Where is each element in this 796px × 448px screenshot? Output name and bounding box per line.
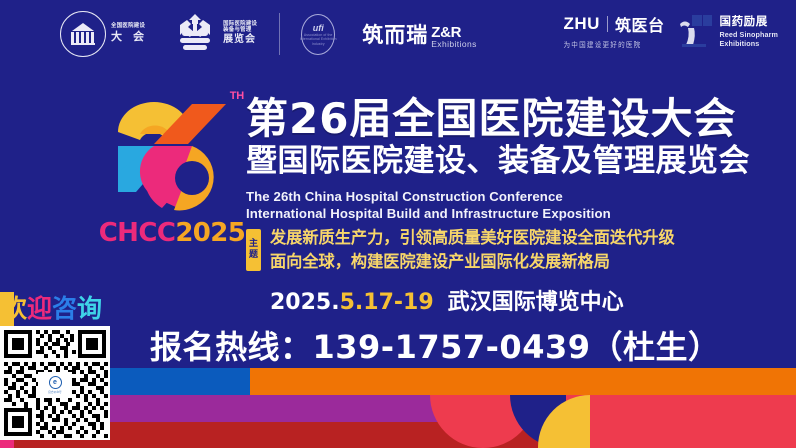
- qr-center-caption: 官方公众号: [48, 390, 61, 394]
- zr-en-block: Z&R Exhibitions: [431, 24, 477, 49]
- date-year: 2025.: [270, 290, 340, 315]
- left-logo-group: 全国医院建设 大 会: [60, 10, 477, 58]
- classical-building-emblem-icon: [60, 11, 106, 57]
- chcc-event-logo: TH CHCC2025: [96, 88, 248, 260]
- headline-english-line1: The 26th China Hospital Construction Con…: [246, 188, 786, 206]
- logo-national-conference-text: 全国医院建设 大 会: [111, 24, 148, 44]
- reed-cn-name: 国药励展: [719, 13, 778, 29]
- logo-national-conference-big: 大 会: [111, 32, 148, 44]
- reed-en-line1: Reed Sinopharm: [719, 30, 778, 39]
- theme-badge: 主 题: [246, 229, 261, 271]
- event-theme: 主 题 发展新质生产力，引领高质量美好医院建设全面迭代升级 面向全球，构建医院建…: [246, 226, 675, 274]
- headline-line2: 暨国际医院建设、装备及管理展览会: [246, 143, 786, 180]
- logo-divider: [279, 13, 280, 55]
- theme-line2: 面向全球，构建医院建设产业国际化发展新格局: [270, 250, 675, 274]
- venue-name: 武汉国际博览中心: [448, 290, 624, 315]
- logo-international-expo-text: 国际医院建设 装备与管理 展览会: [223, 22, 257, 46]
- logo-international-expo-big: 展览会: [223, 35, 257, 46]
- theme-text: 发展新质生产力，引领高质量美好医院建设全面迭代升级 面向全球，构建医院建设产业国…: [270, 226, 675, 274]
- chcc-wordmark: CHCC2025: [96, 218, 248, 248]
- ufi-subtext: Association of the International Exhibit…: [298, 33, 338, 46]
- headline-english-line2: International Hospital Build and Infrast…: [246, 205, 786, 223]
- qr-welcome-char-4: 询: [77, 294, 102, 323]
- right-logo-group: ZHU 筑医台 为中国建设更好的医院 国药励展: [564, 12, 778, 49]
- snowflake-cross-emblem-icon: [172, 11, 218, 57]
- bottom-decorative-band: [0, 368, 796, 448]
- logo-international-expo-small2: 装备与管理: [223, 28, 257, 34]
- zr-en-sub: Exhibitions: [431, 39, 477, 49]
- qr-center-logo-icon: e 官方公众号: [38, 372, 72, 398]
- reed-sinopharm-seal-icon: [678, 14, 714, 48]
- zhu-mark: ZHU: [564, 14, 600, 34]
- chcc-ordinal-suffix: TH: [230, 90, 244, 102]
- partner-logo-bar: 全国医院建设 大 会: [0, 0, 796, 72]
- headline-line1: 第26届全国医院建设大会: [246, 96, 786, 141]
- qr-welcome-text: 欢迎咨询: [2, 296, 110, 321]
- logo-reed-sinopharm: 国药励展 Reed Sinopharm Exhibitions: [678, 13, 778, 48]
- zr-cn-name: 筑而瑞: [362, 19, 428, 49]
- headline-english: The 26th China Hospital Construction Con…: [246, 188, 786, 223]
- theme-badge-char2: 题: [249, 250, 258, 261]
- qr-center-glyph: e: [49, 376, 62, 389]
- qr-welcome-char-1: 欢: [2, 294, 27, 323]
- chcc-26-mark-icon: [96, 88, 248, 216]
- date-venue-row: 2025.5.17-19武汉国际博览中心: [270, 284, 624, 316]
- theme-badge-char1: 主: [249, 239, 258, 250]
- ufi-circle-icon: ufi Association of the International Exh…: [298, 10, 338, 58]
- logo-national-conference-small: 全国医院建设: [111, 24, 148, 30]
- theme-line1: 发展新质生产力，引领高质量美好医院建设全面迭代升级: [270, 226, 675, 250]
- zhu-cn-name: 筑医台: [615, 12, 665, 36]
- band-stripe-orange: [250, 368, 796, 395]
- date-month-day: 5.17-19: [340, 290, 434, 315]
- logo-national-conference: 全国医院建设 大 会: [60, 11, 148, 57]
- logo-zr-exhibitions: 筑而瑞 Z&R Exhibitions: [362, 19, 477, 49]
- zhu-top-row: ZHU 筑医台: [564, 12, 665, 36]
- qr-consultation-panel[interactable]: 欢迎咨询: [0, 292, 110, 448]
- reed-en-line2: Exhibitions: [719, 39, 778, 48]
- chcc-wordmark-year: 2025: [175, 218, 245, 248]
- logo-international-expo: 国际医院建设 装备与管理 展览会: [172, 11, 257, 57]
- band-block-bright-red: [560, 395, 796, 448]
- reed-text-block: 国药励展 Reed Sinopharm Exhibitions: [719, 13, 778, 48]
- zhu-tagline: 为中国建设更好的医院: [564, 39, 642, 49]
- chcc-wordmark-prefix: CHCC: [99, 218, 176, 248]
- qr-welcome-char-2: 迎: [27, 294, 52, 323]
- zhu-divider: [607, 16, 608, 32]
- event-headline: 第26届全国医院建设大会 暨国际医院建设、装备及管理展览会 The 26th C…: [246, 96, 786, 223]
- ufi-sub3: Industry: [312, 42, 325, 46]
- qr-welcome-char-3: 咨: [52, 294, 77, 323]
- logo-zhu-yi-tai: ZHU 筑医台 为中国建设更好的医院: [564, 12, 665, 49]
- ufi-mark: ufi: [298, 23, 338, 33]
- promotional-banner: 全国医院建设 大 会: [0, 0, 796, 448]
- registration-hotline: 报名热线：139-1757-0439（杜生）: [150, 322, 790, 368]
